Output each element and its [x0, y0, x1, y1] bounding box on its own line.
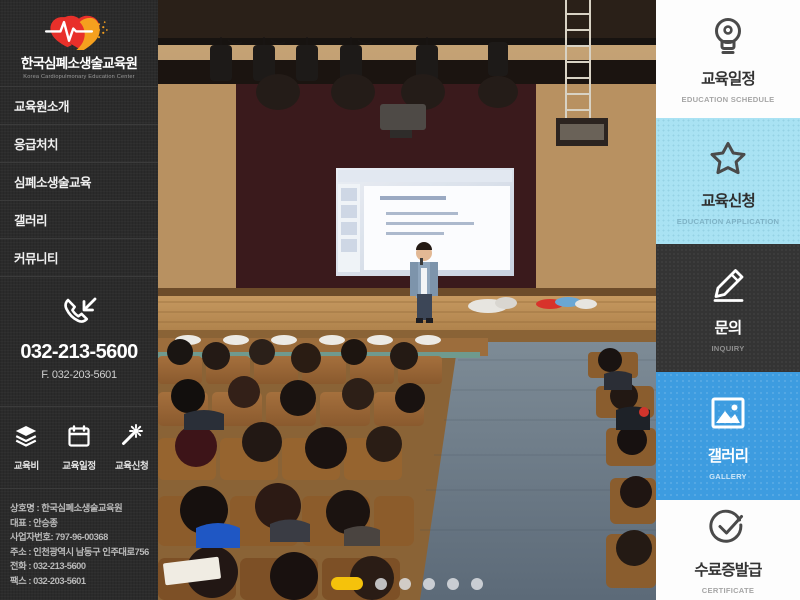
- contact-block: 032-213-5600 F. 032-203-5601: [0, 277, 158, 407]
- card-title-kr: 수료증발급: [694, 558, 761, 580]
- lightbulb-icon: [711, 14, 745, 58]
- star-icon: [709, 136, 747, 180]
- quick-link-tuition[interactable]: 교육비: [1, 423, 51, 472]
- footer-line: 대표 : 안승종: [10, 516, 158, 531]
- slider-dot-2[interactable]: [375, 578, 387, 590]
- nav-label: 갤러리: [14, 210, 47, 229]
- layers-icon: [14, 423, 38, 449]
- pencil-icon: [709, 263, 747, 307]
- slider-dot-4[interactable]: [423, 578, 435, 590]
- nav-label: 커뮤니티: [14, 248, 58, 267]
- hero-slider[interactable]: [158, 0, 656, 600]
- slider-dot-5[interactable]: [447, 578, 459, 590]
- slider-dot-6[interactable]: [471, 578, 483, 590]
- fax-number: F. 032-203-5601: [0, 369, 158, 381]
- image-icon: [709, 391, 747, 435]
- card-title-kr: 교육신청: [701, 189, 755, 211]
- logo-text-en: Korea Cardiopulmonary Education Center: [23, 74, 134, 80]
- check-circle-icon: [709, 505, 747, 549]
- phone-incoming-icon: [59, 295, 99, 329]
- footer-line: 팩스 : 032-203-5601: [10, 574, 158, 589]
- card-title-en: GALLERY: [709, 472, 747, 481]
- footer-line: 사업자번호: 797-96-00368: [10, 530, 158, 545]
- calendar-icon: [67, 423, 91, 449]
- slider-dot-3[interactable]: [399, 578, 411, 590]
- card-title-en: CERTIFICATE: [702, 586, 754, 595]
- quick-link-schedule[interactable]: 교육일정: [54, 423, 104, 472]
- card-title-en: EDUCATION APPLICATION: [677, 217, 780, 226]
- right-quick-panel: 교육일정 EDUCATION SCHEDULE 교육신청 EDUCATION A…: [656, 0, 800, 600]
- auditorium-lecture-photo: [158, 0, 656, 600]
- right-card-application[interactable]: 교육신청 EDUCATION APPLICATION: [656, 118, 800, 244]
- heart-ecg-logo-icon: [36, 10, 122, 50]
- card-title-kr: 문의: [715, 316, 742, 338]
- card-title-kr: 갤러리: [708, 444, 748, 466]
- card-title-en: EDUCATION SCHEDULE: [682, 95, 775, 104]
- nav-item-firstaid[interactable]: 응급처치: [0, 125, 158, 163]
- quick-link-application[interactable]: 교육신청: [107, 423, 157, 472]
- quick-link-label: 교육일정: [62, 458, 95, 472]
- nav-label: 심폐소생술교육: [14, 172, 91, 191]
- nav-item-about[interactable]: 교육원소개: [0, 87, 158, 125]
- phone-number[interactable]: 032-213-5600: [0, 341, 158, 364]
- quick-link-label: 교육신청: [115, 458, 148, 472]
- left-sidebar: 한국심폐소생술교육원 Korea Cardiopulmonary Educati…: [0, 0, 158, 600]
- card-title-en: INQUIRY: [711, 344, 744, 353]
- homepage-root: 한국심폐소생술교육원 Korea Cardiopulmonary Educati…: [0, 0, 800, 600]
- card-title-kr: 교육일정: [701, 67, 755, 89]
- footer-line: 상호명 : 한국심폐소생술교육원: [10, 501, 158, 516]
- right-card-schedule[interactable]: 교육일정 EDUCATION SCHEDULE: [656, 0, 800, 118]
- footer-line: 주소 : 인천광역시 남동구 인주대로756: [10, 545, 158, 560]
- slider-pagination: [158, 577, 656, 590]
- quick-links: 교육비 교육일정: [0, 407, 158, 489]
- right-card-inquiry[interactable]: 문의 INQUIRY: [656, 244, 800, 372]
- nav-label: 교육원소개: [14, 96, 69, 115]
- footer-line: 전화 : 032-213-5600: [10, 559, 158, 574]
- main-navigation: 교육원소개 응급처치 심폐소생술교육 갤러리 커뮤니티: [0, 86, 158, 277]
- site-logo[interactable]: 한국심폐소생술교육원 Korea Cardiopulmonary Educati…: [0, 0, 158, 86]
- logo-text-kr: 한국심폐소생술교육원: [21, 52, 137, 72]
- quick-link-label: 교육비: [14, 458, 39, 472]
- right-card-gallery[interactable]: 갤러리 GALLERY: [656, 372, 800, 500]
- magic-wand-icon: [120, 423, 144, 449]
- nav-item-community[interactable]: 커뮤니티: [0, 239, 158, 277]
- nav-label: 응급처치: [14, 134, 58, 153]
- nav-item-gallery[interactable]: 갤러리: [0, 201, 158, 239]
- nav-item-cpr-education[interactable]: 심폐소생술교육: [0, 163, 158, 201]
- footer-company-info: 상호명 : 한국심폐소생술교육원 대표 : 안승종 사업자번호: 797-96-…: [0, 489, 158, 589]
- slider-dot-1[interactable]: [331, 577, 363, 590]
- right-card-certificate[interactable]: 수료증발급 CERTIFICATE: [656, 500, 800, 600]
